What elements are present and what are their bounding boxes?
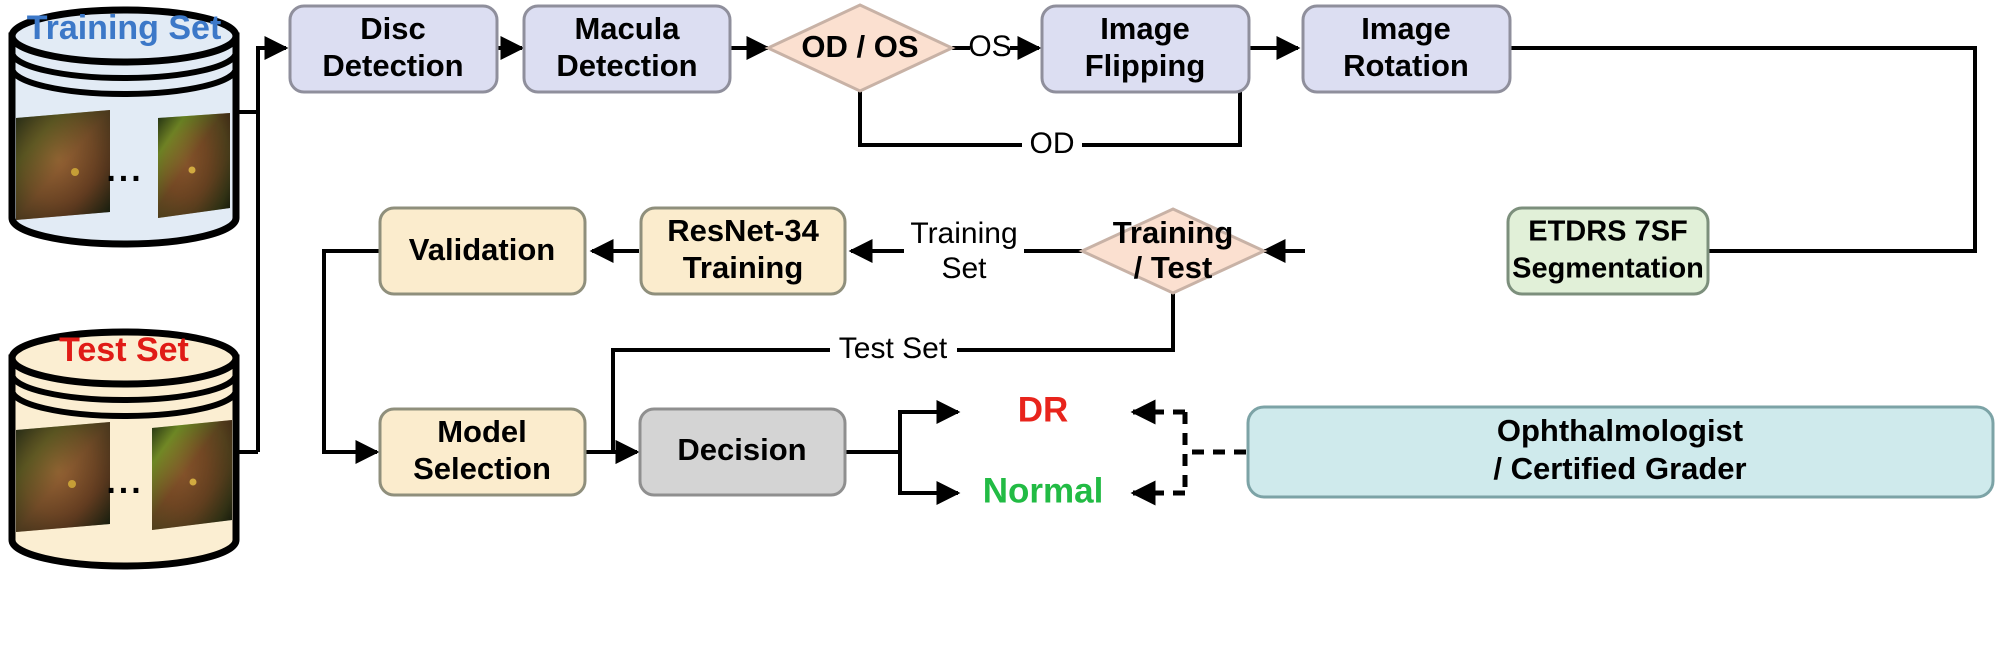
macula-detection-label-1: Macula bbox=[574, 11, 680, 46]
resnet-label-2: Training bbox=[683, 250, 804, 285]
edge-label-od: OD bbox=[1030, 127, 1075, 160]
disc-detection-label-1: Disc bbox=[360, 11, 425, 46]
edge-label-test-set: Test Set bbox=[839, 332, 948, 365]
image-flipping-label-2: Flipping bbox=[1085, 48, 1206, 83]
test-ellipsis: ... bbox=[106, 463, 143, 501]
etdrs-label-2: Segmentation bbox=[1512, 253, 1704, 285]
node-macula-detection[interactable]: Macula Detection bbox=[524, 6, 730, 92]
node-od-os-decision[interactable]: OD / OS bbox=[768, 5, 952, 91]
edge-decision-to-dr bbox=[900, 412, 958, 452]
node-image-flipping[interactable]: Image Flipping bbox=[1042, 6, 1249, 92]
grader-label-2: / Certified Grader bbox=[1493, 451, 1746, 486]
outcome-dr-label: DR bbox=[1018, 390, 1069, 429]
node-disc-detection[interactable]: Disc Detection bbox=[290, 6, 497, 92]
node-image-rotation[interactable]: Image Rotation bbox=[1303, 6, 1510, 92]
image-flipping-label-1: Image bbox=[1100, 11, 1190, 46]
test-set-title: Test Set bbox=[59, 331, 189, 369]
grader-label-1: Ophthalmologist bbox=[1497, 413, 1743, 448]
node-model-selection[interactable]: Model Selection bbox=[380, 409, 585, 495]
training-fundus-thumb-2 bbox=[158, 113, 230, 218]
etdrs-label-1: ETDRS 7SF bbox=[1528, 216, 1688, 248]
edge-validation-to-modelselection bbox=[324, 251, 380, 452]
disc-detection-label-2: Detection bbox=[322, 48, 463, 83]
model-selection-label-2: Selection bbox=[413, 451, 551, 486]
outcome-normal-label: Normal bbox=[983, 471, 1104, 510]
decision-label: Decision bbox=[677, 432, 806, 467]
flowchart-canvas: ... Training Set ... Test Set Disc Detec… bbox=[0, 0, 2007, 651]
validation-label: Validation bbox=[409, 232, 555, 267]
node-resnet-training[interactable]: ResNet-34 Training bbox=[641, 208, 845, 294]
test-fundus-thumb-1 bbox=[16, 422, 110, 532]
node-decision[interactable]: Decision bbox=[640, 409, 845, 495]
training-test-label-2: / Test bbox=[1134, 250, 1213, 285]
training-test-label-1: Training bbox=[1113, 215, 1234, 250]
node-grader[interactable]: Ophthalmologist / Certified Grader bbox=[1248, 407, 1993, 497]
edge-decision-to-normal bbox=[900, 452, 958, 493]
node-training-test-decision[interactable]: Training / Test bbox=[1082, 209, 1264, 293]
training-fundus-thumb-1 bbox=[16, 110, 110, 220]
node-validation[interactable]: Validation bbox=[380, 208, 585, 294]
image-rotation-label-1: Image bbox=[1361, 11, 1451, 46]
edge-label-training-set-2: Set bbox=[941, 252, 987, 285]
edge-trunk-to-disc bbox=[258, 48, 286, 452]
resnet-label-1: ResNet-34 bbox=[667, 213, 819, 248]
flowchart-diagram: ... Training Set ... Test Set Disc Detec… bbox=[0, 0, 2007, 651]
macula-detection-label-2: Detection bbox=[556, 48, 697, 83]
model-selection-label-1: Model bbox=[437, 414, 527, 449]
training-set-cylinder[interactable]: ... Training Set bbox=[12, 9, 236, 244]
test-fundus-thumb-2 bbox=[152, 420, 232, 530]
node-etdrs-segmentation[interactable]: ETDRS 7SF Segmentation bbox=[1508, 208, 1708, 294]
edge-label-os: OS bbox=[968, 30, 1011, 63]
test-set-cylinder[interactable]: ... Test Set bbox=[12, 331, 236, 566]
training-set-title: Training Set bbox=[27, 9, 222, 47]
edge-label-training-set-1: Training bbox=[910, 217, 1017, 250]
image-rotation-label-2: Rotation bbox=[1343, 48, 1469, 83]
training-ellipsis: ... bbox=[106, 151, 143, 189]
od-os-label: OD / OS bbox=[801, 29, 918, 64]
